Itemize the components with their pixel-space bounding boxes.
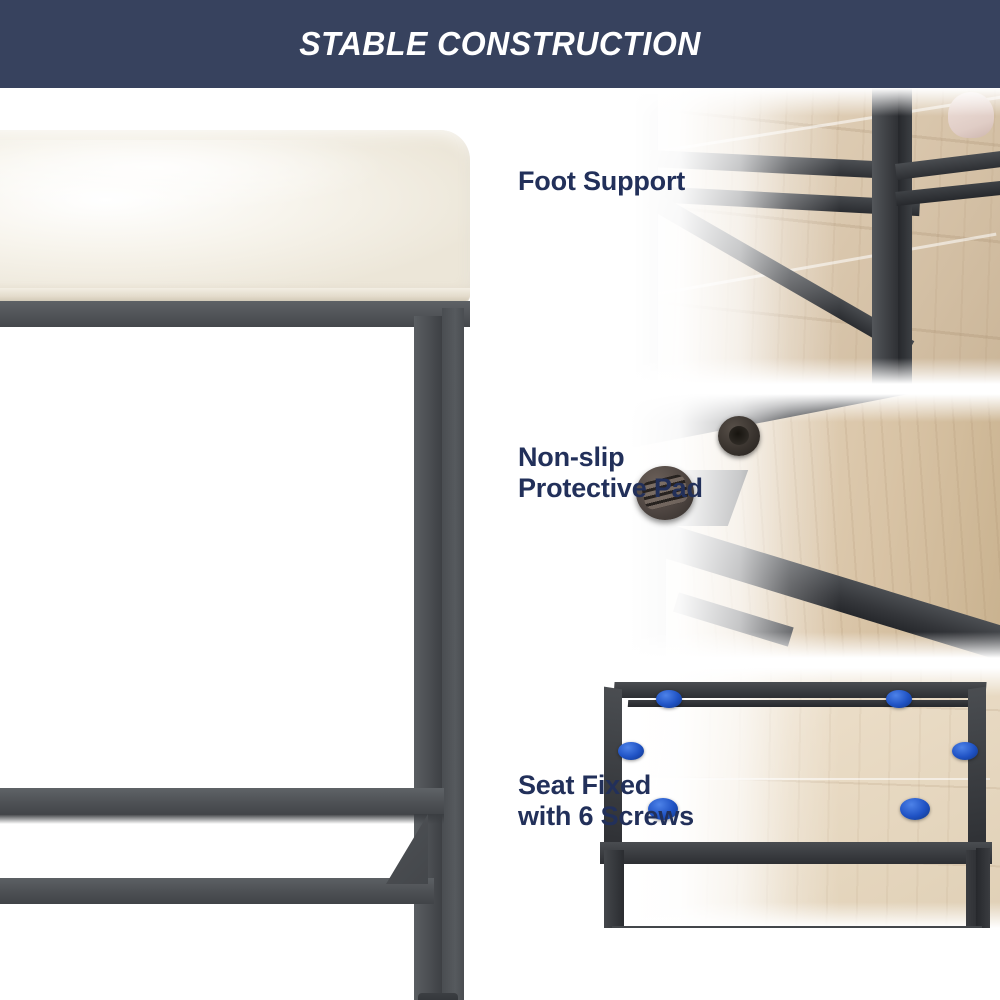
panel-bottom-fade [500,632,1000,658]
content-area: Foot Support [0,88,1000,1000]
screw-marker [618,742,644,760]
frame-lower-shelf-rail [612,926,982,928]
frame-right-leg-inner [442,308,464,1000]
page-title: STABLE CONSTRUCTION [299,25,701,63]
panel-bottom-fade [500,358,1000,384]
feature-panel-foot-support: Foot Support [500,88,1000,384]
foot-support-photo [500,88,1000,384]
panel-left-fade [500,88,1000,384]
screw-marker [656,690,682,708]
frame-top-apron [0,301,470,327]
screw-marker [900,798,930,820]
frame-upper-stretcher [0,788,444,814]
feature-panel-column: Foot Support [500,88,1000,1000]
infographic-page: STABLE CONSTRUCTION [0,0,1000,1000]
feature-panel-non-slip-pad: Non-slip Protective Pad [500,394,1000,658]
screw-marker [952,742,978,760]
hero-product-image [0,88,500,1000]
frame-left-leg [604,850,624,928]
panel-bottom-fade [500,902,1000,928]
hex-socket-icon [729,426,749,445]
cushion-piping [0,288,470,302]
cushion-highlight [0,140,450,230]
feature-panel-seat-screws: Seat Fixed with 6 Screws [500,668,1000,928]
panel-label-non-slip-pad: Non-slip Protective Pad [518,442,703,505]
frame-corner-gusset [386,814,428,884]
frame-right-leg-side [976,848,990,928]
panel-label-seat-screws: Seat Fixed with 6 Screws [518,770,694,833]
screw-marker [886,690,912,708]
non-slip-pad-photo [500,394,1000,658]
frame-foot-pad [418,993,458,1000]
frame-right-top-rail [968,687,986,858]
frame-front-top-rail [600,842,992,864]
panel-label-foot-support: Foot Support [518,166,685,197]
frame-upper-stretcher-shadow [0,814,444,824]
header-banner: STABLE CONSTRUCTION [0,0,1000,88]
frame-bottom-foot-rail [0,878,434,904]
